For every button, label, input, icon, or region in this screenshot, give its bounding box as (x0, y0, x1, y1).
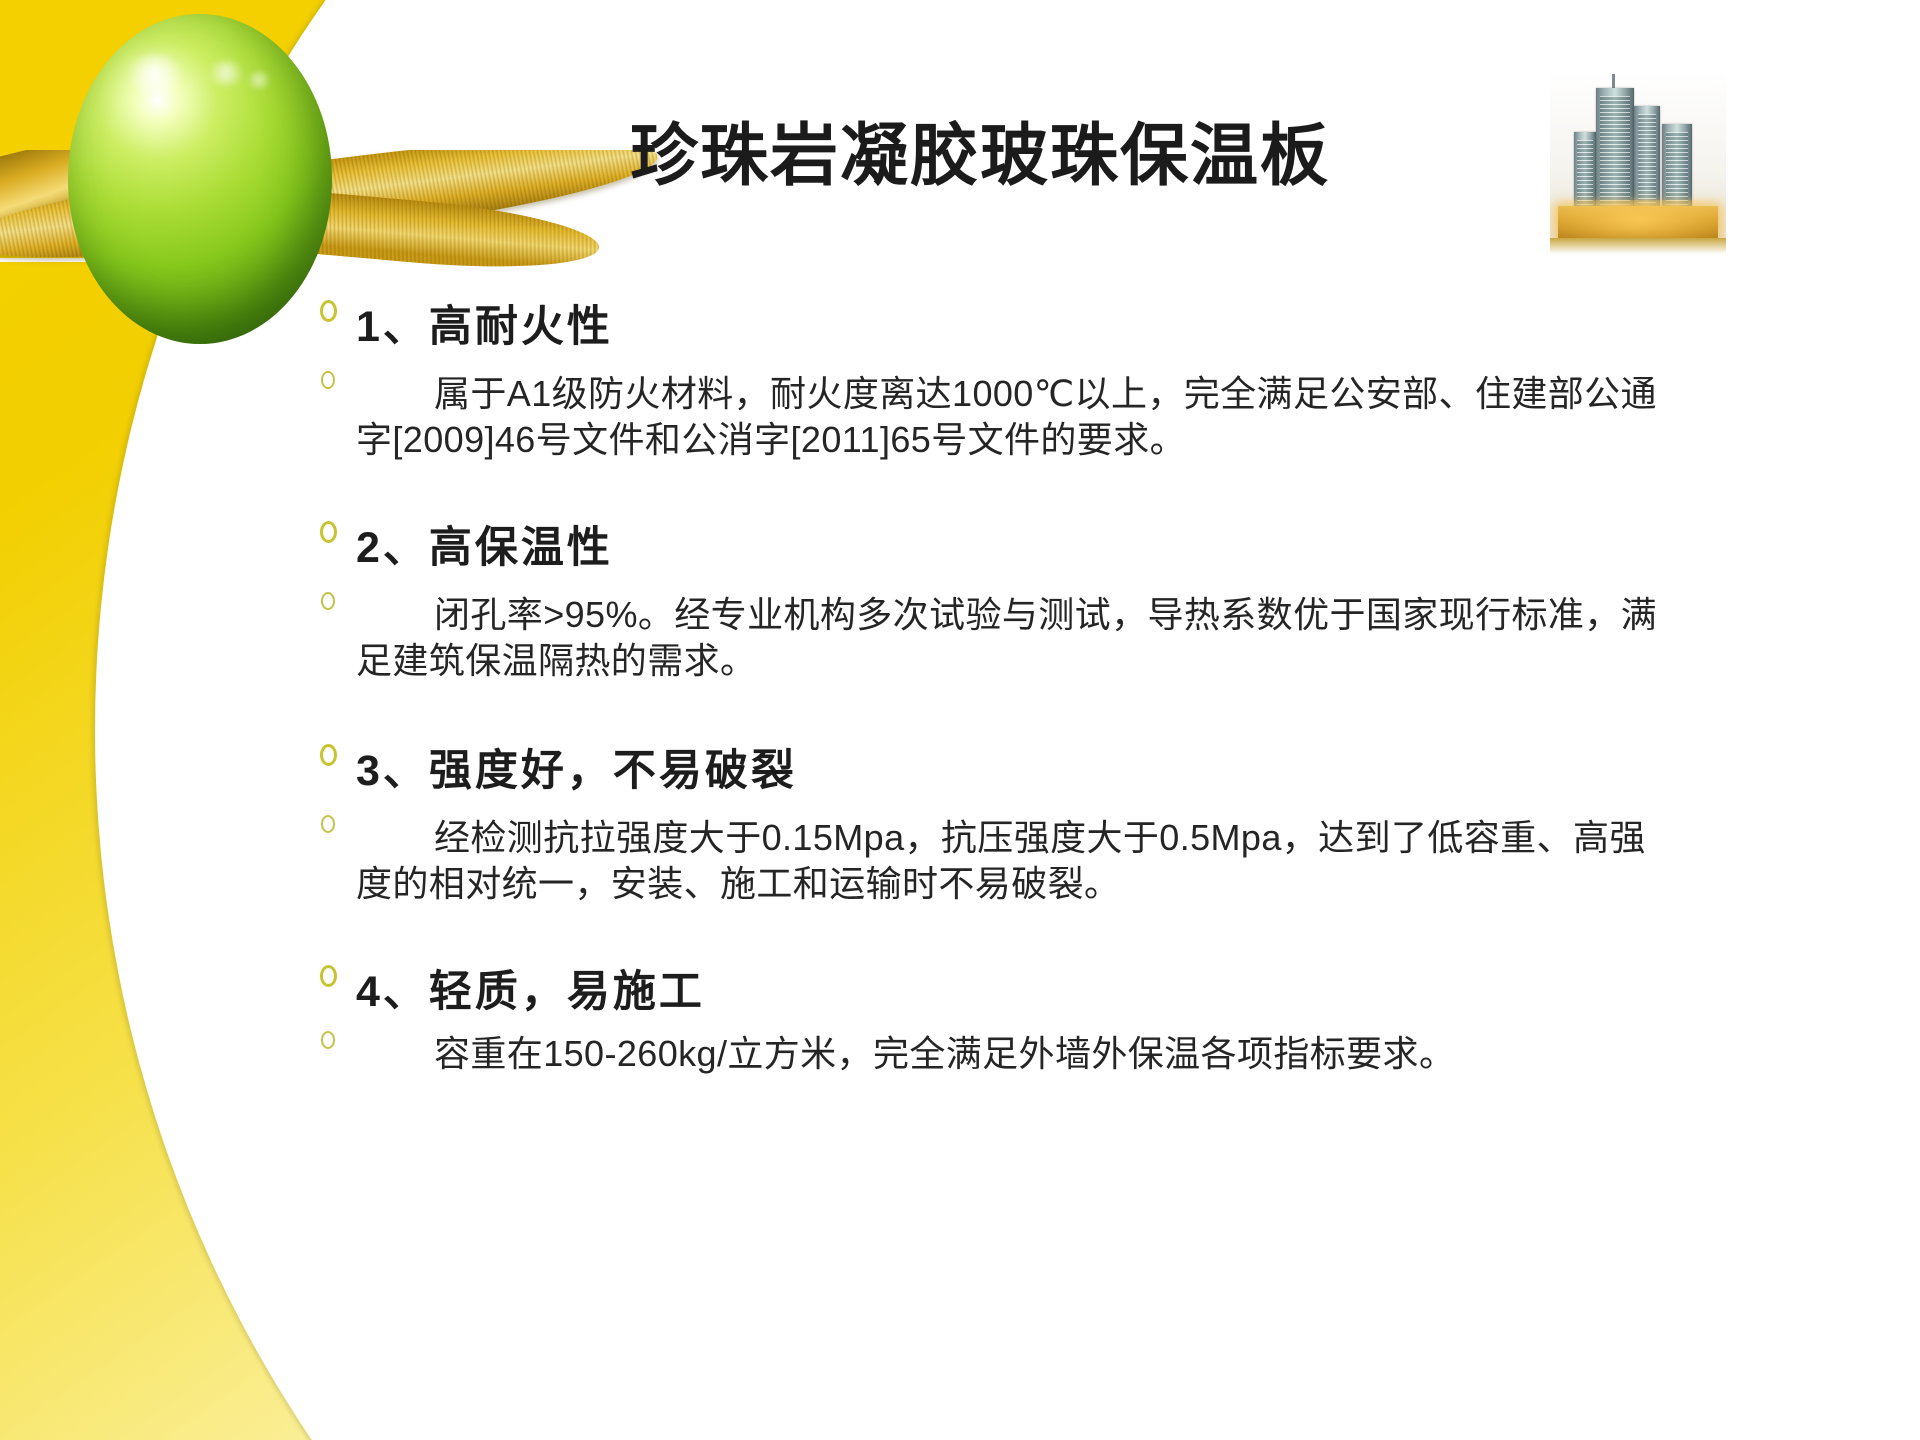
bullet-circle-icon (300, 965, 356, 987)
slide-content: 1、高耐火性 属于A1级防火材料，耐火度离达1000℃以上，完全满足公安部、住建… (300, 300, 1900, 1077)
bullet-circle-icon (300, 300, 356, 322)
feature-body-row-2: 闭孔率>95%。经专业机构多次试验与测试，导热系数优于国家现行标准，满足建筑保温… (300, 592, 1900, 684)
feature-body-row-1: 属于A1级防火材料，耐火度离达1000℃以上，完全满足公安部、住建部公通字[20… (300, 371, 1900, 463)
bullet-circle-icon (300, 744, 356, 766)
feature-body-3: 经检测抗拉强度大于0.15Mpa，抗压强度大于0.5Mpa，达到了低容重、高强度… (356, 815, 1666, 907)
sphere-highlight-primary (128, 54, 182, 94)
feature-heading-4: 4、轻质，易施工 (356, 965, 705, 1018)
feature-body-row-4: 容重在150-260kg/立方米，完全满足外墙外保温各项指标要求。 (300, 1031, 1900, 1077)
feature-section-4: 4、轻质，易施工 容重在150-260kg/立方米，完全满足外墙外保温各项指标要… (300, 965, 1900, 1078)
bullet-circle-icon (300, 371, 356, 389)
sphere-highlight-tertiary (246, 70, 272, 90)
feature-heading-row-2: 2、高保温性 (300, 521, 1900, 574)
building-windows-mid (1638, 114, 1656, 210)
building-windows-main (1600, 96, 1630, 210)
bullet-circle-icon (300, 521, 356, 543)
feature-body-2: 闭孔率>95%。经专业机构多次试验与测试，导热系数优于国家现行标准，满足建筑保温… (356, 592, 1666, 684)
feature-body-4: 容重在150-260kg/立方米，完全满足外墙外保温各项指标要求。 (356, 1031, 1455, 1077)
feature-heading-row-1: 1、高耐火性 (300, 300, 1900, 353)
bullet-circle-icon (300, 592, 356, 610)
feature-heading-3: 3、强度好，不易破裂 (356, 744, 797, 797)
presentation-slide: 珍珠岩凝胶玻珠保温板 1、高耐火性 属于A1级防火材料，耐火度离达1000℃以上… (0, 0, 1920, 1440)
feature-section-2: 2、高保温性 闭孔率>95%。经专业机构多次试验与测试，导热系数优于国家现行标准… (300, 521, 1900, 684)
feature-heading-2: 2、高保温性 (356, 521, 613, 574)
feature-heading-row-4: 4、轻质，易施工 (300, 965, 1900, 1018)
feature-heading-1: 1、高耐火性 (356, 300, 613, 353)
feature-body-1: 属于A1级防火材料，耐火度离达1000℃以上，完全满足公安部、住建部公通字[20… (356, 371, 1666, 463)
bullet-circle-icon (300, 1031, 356, 1049)
building-ground (1550, 238, 1726, 254)
slide-title: 珍珠岩凝胶玻珠保温板 (430, 122, 1530, 190)
sphere-highlight-secondary (206, 60, 246, 86)
building-photo-icon (1550, 72, 1726, 254)
feature-body-row-3: 经检测抗拉强度大于0.15Mpa，抗压强度大于0.5Mpa，达到了低容重、高强度… (300, 815, 1900, 907)
green-sphere-icon (68, 14, 332, 344)
bullet-circle-icon (300, 815, 356, 833)
feature-section-3: 3、强度好，不易破裂 经检测抗拉强度大于0.15Mpa，抗压强度大于0.5Mpa… (300, 744, 1900, 907)
feature-section-1: 1、高耐火性 属于A1级防火材料，耐火度离达1000℃以上，完全满足公安部、住建… (300, 300, 1900, 463)
feature-heading-row-3: 3、强度好，不易破裂 (300, 744, 1900, 797)
